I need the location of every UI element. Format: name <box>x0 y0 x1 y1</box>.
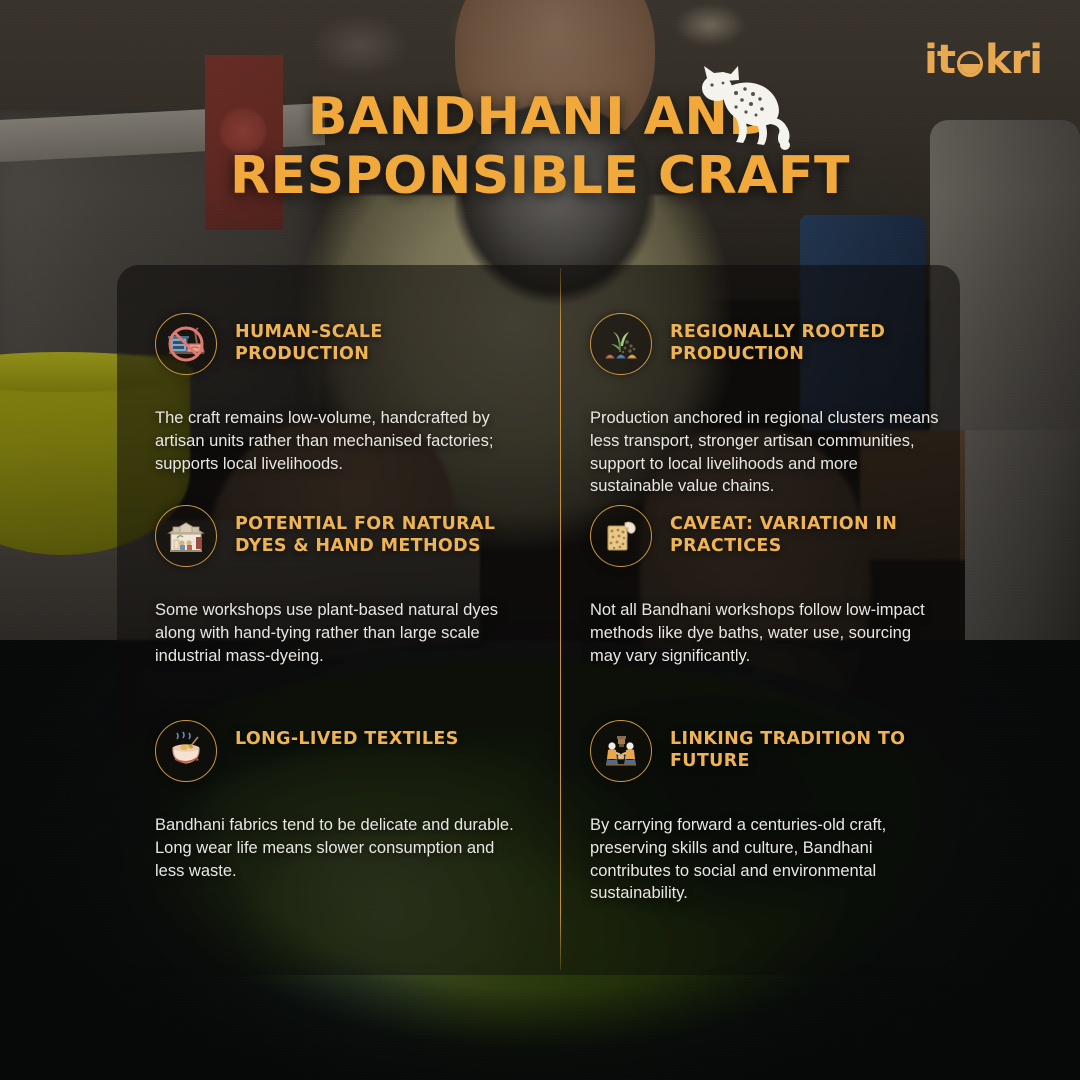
feature-card-long-lived-textiles[interactable]: LONG-LIVED TEXTILES Bandhani fabrics ten… <box>117 675 560 975</box>
card-header: POTENTIAL FOR NATURAL DYES & HAND METHOD… <box>155 505 522 567</box>
card-title: LONG-LIVED TEXTILES <box>235 720 459 750</box>
card-body: Bandhani fabrics tend to be delicate and… <box>155 814 522 882</box>
artisan-workshop-building-icon <box>155 505 217 567</box>
page-title-line-2: RESPONSIBLE CRAFT <box>150 147 930 206</box>
title-block: BANDHANI AND RESPONSIBLE CRAFT <box>0 88 1080 207</box>
infographic-canvas: itkri BANDHANI AND RESPONSIBLE CRAFT <box>0 0 1080 1080</box>
logo-text-before: it <box>924 40 955 80</box>
card-title: LINKING TRADITION TO FUTURE <box>670 720 940 773</box>
card-header: HUMAN-SCALE PRODUCTION <box>155 313 522 375</box>
brand-logo-itokri[interactable]: itkri <box>924 40 1042 80</box>
card-body: Some workshops use plant-based natural d… <box>155 599 522 667</box>
page-title: BANDHANI AND RESPONSIBLE CRAFT <box>0 88 1080 207</box>
two-artisans-seated-icon <box>590 720 652 782</box>
logo-basket-o-icon <box>957 51 983 77</box>
page-title-line-1: BANDHANI AND <box>150 88 930 147</box>
hand-holding-patterned-fabric-icon <box>590 505 652 567</box>
card-title: CAVEAT: VARIATION IN PRACTICES <box>670 505 940 558</box>
feature-card-natural-dyes-hand-methods[interactable]: POTENTIAL FOR NATURAL DYES & HAND METHOD… <box>117 465 560 675</box>
seedling-soil-mounds-icon <box>590 313 652 375</box>
card-title: POTENTIAL FOR NATURAL DYES & HAND METHOD… <box>235 505 522 558</box>
card-title: HUMAN-SCALE PRODUCTION <box>235 313 522 366</box>
card-header: REGIONALLY ROOTED PRODUCTION <box>590 313 940 375</box>
card-title: REGIONALLY ROOTED PRODUCTION <box>670 313 940 366</box>
feature-card-grid: HUMAN-SCALE PRODUCTION The craft remains… <box>117 265 960 975</box>
card-header: LONG-LIVED TEXTILES <box>155 720 522 782</box>
feature-card-linking-tradition-to-future[interactable]: LINKING TRADITION TO FUTURE By carrying … <box>560 675 960 975</box>
card-header: CAVEAT: VARIATION IN PRACTICES <box>590 505 940 567</box>
card-body: By carrying forward a centuries-old craf… <box>590 814 940 905</box>
feature-card-caveat-variation-in-practices[interactable]: CAVEAT: VARIATION IN PRACTICES Not all B… <box>560 465 960 675</box>
feature-card-regionally-rooted-production[interactable]: REGIONALLY ROOTED PRODUCTION Production … <box>560 265 960 465</box>
steaming-dye-pot-icon <box>155 720 217 782</box>
card-body: Not all Bandhani workshops follow low-im… <box>590 599 940 667</box>
card-header: LINKING TRADITION TO FUTURE <box>590 720 940 782</box>
logo-text-after: kri <box>985 40 1042 80</box>
no-factory-machine-icon <box>155 313 217 375</box>
feature-card-human-scale-production[interactable]: HUMAN-SCALE PRODUCTION The craft remains… <box>117 265 560 465</box>
